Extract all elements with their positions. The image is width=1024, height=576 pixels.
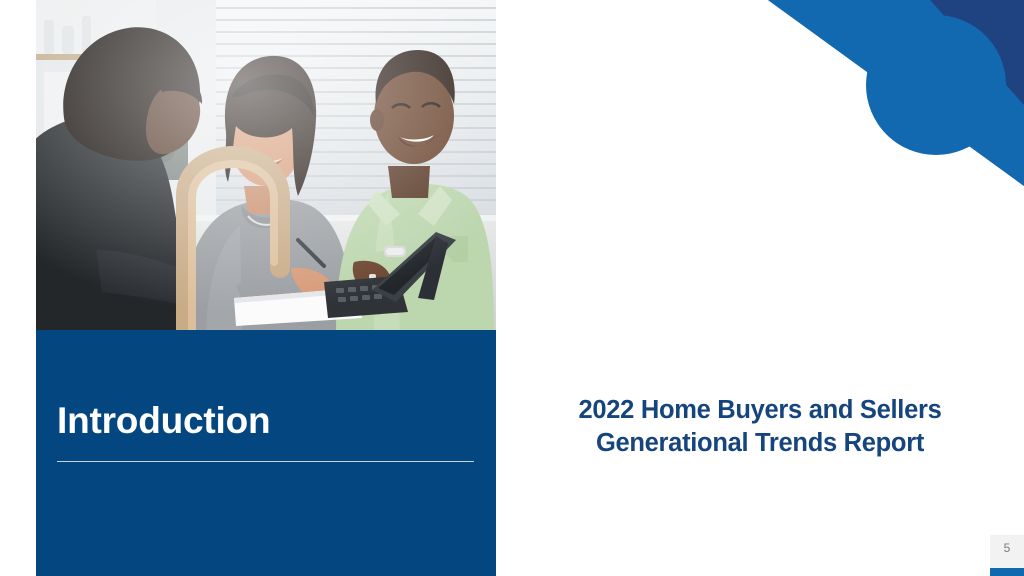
decorative-circle bbox=[866, 15, 1006, 155]
hero-photo bbox=[36, 0, 496, 330]
report-title-line-1: 2022 Home Buyers and Sellers bbox=[579, 396, 942, 424]
section-panel: Introduction bbox=[36, 330, 496, 576]
page-number: 5 bbox=[990, 541, 1024, 555]
report-title-line-2: Generational Trends Report bbox=[596, 429, 924, 457]
corner-decorative-graphic bbox=[760, 0, 1024, 186]
heading-divider bbox=[57, 461, 474, 462]
slide: Introduction 2022 Home Buyers and Seller… bbox=[0, 0, 1024, 576]
report-title: 2022 Home Buyers and Sellers Generationa… bbox=[520, 394, 1000, 459]
page-badge-accent-bar bbox=[990, 568, 1024, 576]
section-heading: Introduction bbox=[57, 402, 270, 441]
page-number-badge: 5 bbox=[990, 535, 1024, 576]
